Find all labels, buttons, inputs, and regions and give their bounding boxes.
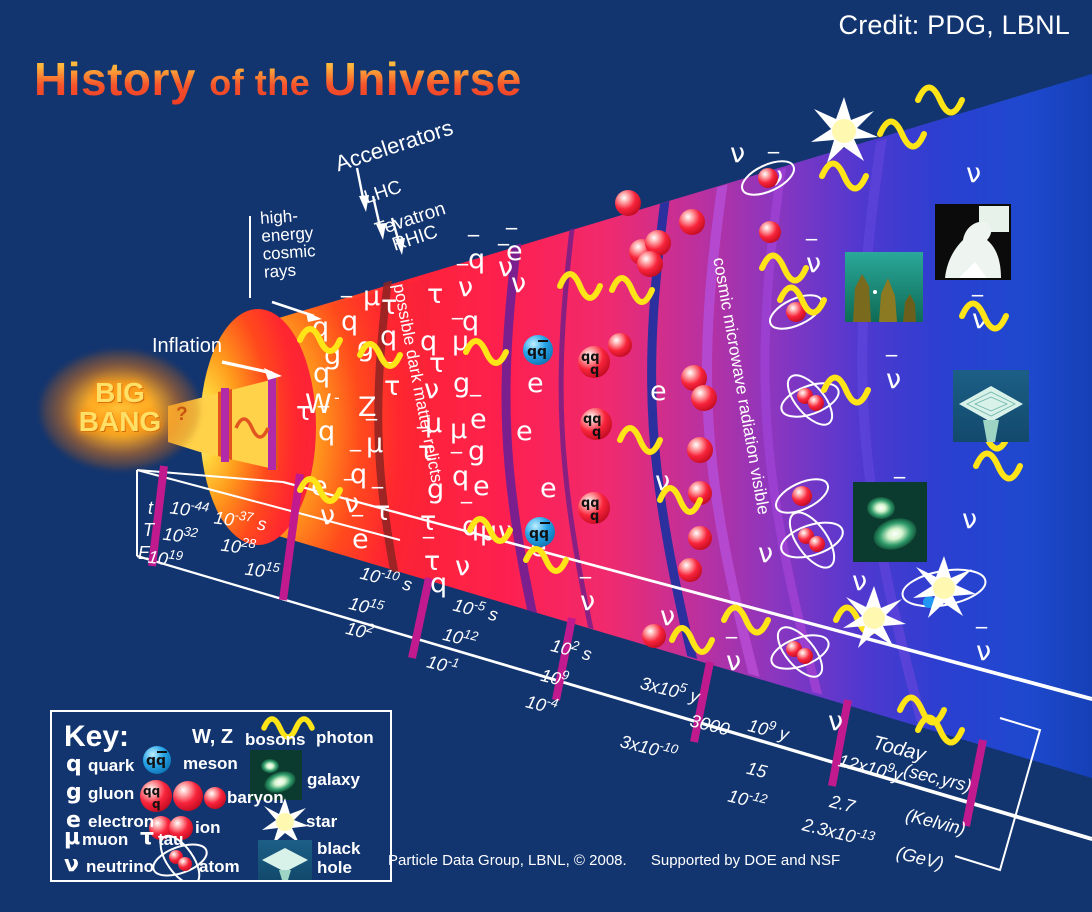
svg-text:τ: τ <box>296 397 312 427</box>
footer-copyright: Particle Data Group, LBNL, © 2008. <box>388 852 627 869</box>
key-star-label: star <box>306 812 337 832</box>
svg-text:ν: ν <box>758 538 773 569</box>
big-bang-line-1: BIG <box>60 378 180 407</box>
svg-text:q: q <box>592 425 601 440</box>
svg-text:‾: ‾ <box>579 575 592 600</box>
svg-text:τ: τ <box>420 506 436 537</box>
key-meson-label: meson <box>183 754 238 774</box>
key-atom-label: atom <box>199 857 240 877</box>
footer-credits: Particle Data Group, LBNL, © 2008. Suppo… <box>388 852 860 869</box>
cosmic-rays-line-4: rays <box>263 260 317 281</box>
title-part-1: History <box>34 53 196 105</box>
svg-text:q: q <box>590 509 599 524</box>
svg-text:e: e <box>473 471 490 502</box>
key-tau-label: tau <box>158 830 184 850</box>
svg-text:‾: ‾ <box>805 237 818 262</box>
svg-text:ν: ν <box>828 706 843 737</box>
svg-text:‾: ‾ <box>317 404 330 429</box>
svg-text:‾: ‾ <box>460 500 473 525</box>
key-heading: Key: <box>64 720 129 754</box>
svg-text:-: - <box>334 388 340 407</box>
key-neutrino-label: neutrino <box>86 857 154 877</box>
svg-text:ν: ν <box>966 158 981 189</box>
svg-text:‾: ‾ <box>365 417 378 442</box>
big-bang-label: BIG BANG <box>60 378 180 437</box>
svg-text:‾: ‾ <box>467 233 480 258</box>
meson-icon: qq <box>143 746 171 774</box>
key-gluon-sym: g <box>66 780 82 805</box>
key-legend-box: qq qq q <box>50 710 392 882</box>
key-quark-label: quark <box>88 756 134 776</box>
svg-text:‾: ‾ <box>422 535 435 560</box>
history-of-the-universe-poster: ? <box>0 0 1092 912</box>
key-galaxy-label: galaxy <box>307 770 360 790</box>
big-bang-line-2: BANG <box>60 407 180 436</box>
svg-text:qq: qq <box>143 784 160 798</box>
svg-text:qq: qq <box>529 526 549 542</box>
svg-text:q: q <box>152 797 161 811</box>
key-photon-label: photon <box>316 728 374 748</box>
svg-text:‾: ‾ <box>975 625 988 650</box>
svg-text:ν: ν <box>962 504 977 535</box>
axis-row-label-T: T <box>143 520 154 541</box>
svg-text:‾: ‾ <box>351 513 364 538</box>
axis-energy-0: 1019 <box>146 544 183 573</box>
svg-text:ν: ν <box>511 268 526 299</box>
key-muon-label: muon <box>82 830 128 850</box>
svg-text:μ: μ <box>450 414 467 445</box>
svg-text:q: q <box>590 363 599 378</box>
svg-text:e: e <box>527 368 544 399</box>
key-neutrino-sym: ν <box>64 852 79 877</box>
svg-text:‾: ‾ <box>456 262 469 287</box>
title-part-2: of the <box>209 62 310 103</box>
key-gluon-label: gluon <box>88 784 134 804</box>
footer-support: Supported by DOE and NSF <box>651 852 840 869</box>
blackhole-icon <box>258 840 312 880</box>
svg-text:‾: ‾ <box>451 316 464 341</box>
svg-text:q: q <box>313 358 330 389</box>
key-tau-sym: τ <box>140 825 154 850</box>
axis-row-label-t: t <box>148 498 153 519</box>
axis-time-0: 10-44 <box>169 494 211 523</box>
svg-text:ν: ν <box>455 551 470 582</box>
svg-text:‾: ‾ <box>497 242 510 267</box>
svg-text:‾: ‾ <box>371 485 384 510</box>
svg-text:μ: μ <box>363 281 380 312</box>
credit-text: Credit: PDG, LBNL <box>839 10 1070 40</box>
key-bosons-sym: W, Z <box>192 726 233 749</box>
key-baryon-label: baryon <box>227 788 284 808</box>
svg-text:e: e <box>516 416 533 447</box>
axis-energy-1: 1015 <box>243 556 280 585</box>
key-ion-label: ion <box>195 818 221 838</box>
svg-text:‾: ‾ <box>885 353 898 378</box>
svg-text:e: e <box>540 473 557 504</box>
svg-text:q: q <box>380 321 397 352</box>
svg-text:e: e <box>650 376 667 407</box>
svg-text:g: g <box>453 368 470 399</box>
svg-text:g: g <box>468 436 485 467</box>
svg-text:qq: qq <box>527 344 547 360</box>
svg-text:ν: ν <box>320 500 335 531</box>
key-muon-sym: μ <box>64 825 80 850</box>
svg-text:τ: τ <box>427 279 443 310</box>
svg-text:‾: ‾ <box>469 393 482 418</box>
title-part-3: Universe <box>324 53 522 105</box>
key-quark-sym: q <box>66 752 82 777</box>
svg-text:q: q <box>430 568 447 599</box>
credit-label: Credit: PDG, LBNL <box>839 10 1070 41</box>
svg-text:‾: ‾ <box>343 477 356 502</box>
svg-text:‾: ‾ <box>725 635 738 660</box>
svg-text:ν: ν <box>730 138 745 169</box>
page-title: History of the Universe <box>34 52 522 106</box>
svg-text:ν: ν <box>852 566 867 597</box>
inflation-label: Inflation <box>152 335 222 358</box>
cosmic-rays-label: high- energy cosmic rays <box>260 206 318 281</box>
key-blackhole-label: black hole <box>317 840 390 877</box>
key-bosons-label: bosons <box>245 730 305 750</box>
svg-text:‾: ‾ <box>340 294 353 319</box>
svg-text:‾: ‾ <box>349 448 362 473</box>
svg-text:qq: qq <box>146 753 166 769</box>
svg-text:‾: ‾ <box>450 450 463 475</box>
baryon-icon: qq q <box>140 780 226 812</box>
axis-temp-0: 1032 <box>161 521 198 550</box>
